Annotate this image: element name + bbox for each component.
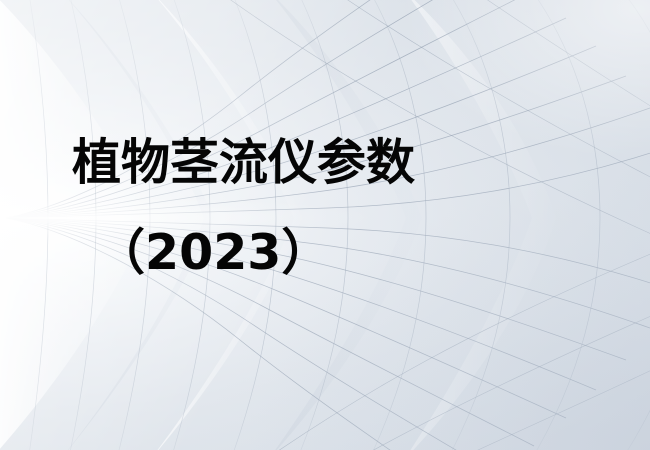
page-title: 植物茎流仪参数 [72,138,415,187]
page-title-year: （2023） [96,228,330,277]
title-slide: 植物茎流仪参数 （2023） [0,0,650,450]
title-text-block: 植物茎流仪参数 （2023） [0,0,650,450]
